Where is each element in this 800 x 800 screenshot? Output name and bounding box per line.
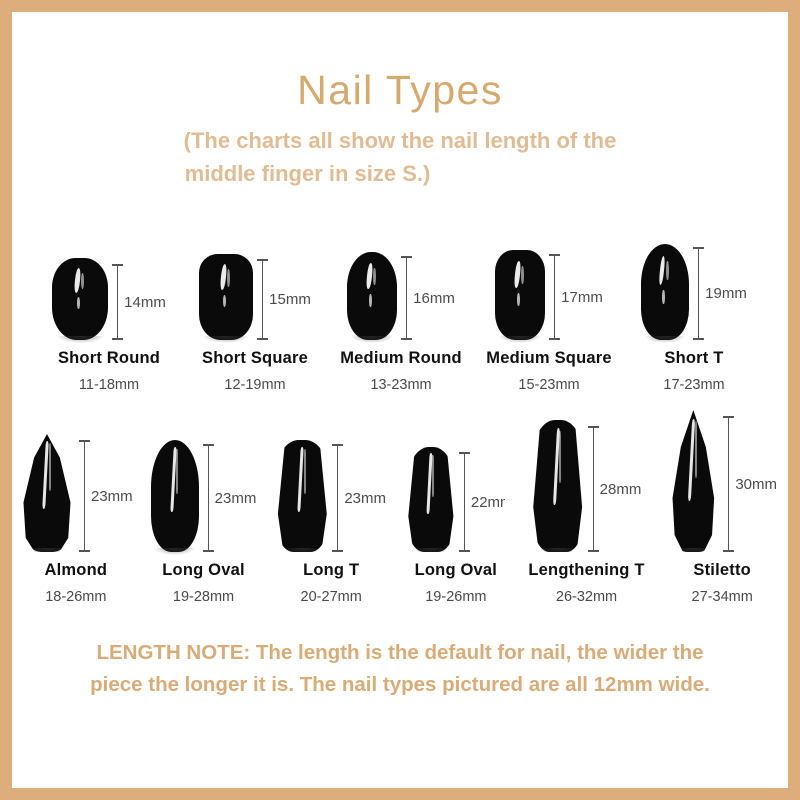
dimension-label: 17mm [561, 289, 603, 306]
dimension-indicator: 22mm [464, 452, 505, 552]
nail-card-lengthening-t[interactable]: 28mm Lengthening T 26-32mm [517, 420, 657, 605]
note-line-1: LENGTH NOTE: The length is the default f… [12, 637, 788, 669]
dimension-line-icon [406, 256, 407, 340]
dimension-line-icon [593, 426, 594, 552]
dimension-line-icon [728, 416, 729, 552]
figure: 14mm [52, 258, 166, 340]
nail-length-range: 15-23mm [518, 377, 579, 393]
nail-shape-short-t [641, 244, 689, 340]
nail-type-name: Lengthening T [528, 561, 644, 580]
nail-card-short-round[interactable]: 14mm Short Round 11-18mm [36, 258, 182, 393]
dimension-label: 30mm [735, 476, 777, 493]
nail-shape-long-oval [151, 440, 199, 552]
dimension-label: 23mm [91, 488, 133, 505]
dimension-line-icon [117, 264, 118, 340]
dimension-label: 23mm [344, 490, 386, 507]
dimension-line-icon [84, 440, 85, 552]
dimension-indicator: 23mm [84, 440, 133, 552]
subtitle-line-2: middle finger in size S.) [0, 157, 788, 190]
dimension-label: 22mm [471, 494, 505, 511]
gloss-highlight-icon [298, 447, 305, 512]
dimension-indicator: 15mm [262, 259, 311, 340]
dimension-line-icon [464, 452, 465, 552]
figure: 23mm [151, 440, 257, 552]
gloss-highlight-icon [73, 268, 81, 293]
dimension-indicator: 23mm [208, 444, 257, 552]
nail-shape-short-square [199, 254, 253, 340]
figure: 17mm [495, 250, 603, 340]
gloss-highlight-icon [517, 293, 520, 306]
nail-type-name: Short Round [58, 349, 160, 368]
nail-row-long: 23mm Almond 18-26mm 23mm Lon [12, 410, 788, 605]
figure: 30mm [667, 410, 777, 552]
nail-type-name: Long Oval [162, 561, 244, 580]
dimension-label: 14mm [124, 294, 166, 311]
figure: 16mm [347, 252, 455, 340]
nail-type-name: Almond [45, 561, 108, 580]
nail-length-range: 19-28mm [173, 589, 234, 605]
gloss-highlight-icon [81, 273, 84, 289]
nail-types-poster: Nail Types (The charts all show the nail… [0, 0, 800, 800]
nail-type-name: Short Square [202, 349, 308, 368]
gloss-highlight-icon [304, 449, 306, 494]
dimension-line-icon [554, 254, 555, 340]
nail-shape-stiletto [667, 410, 719, 552]
gloss-highlight-icon [688, 418, 695, 500]
nail-shape-lengthening-t [532, 420, 584, 552]
figure: 23mm [19, 434, 133, 552]
dimension-label: 19mm [705, 285, 747, 302]
gloss-highlight-icon [514, 261, 521, 288]
dimension-label: 28mm [600, 481, 642, 498]
dimension-indicator: 19mm [698, 247, 747, 340]
gloss-highlight-icon [659, 255, 666, 284]
dimension-line-icon [208, 444, 209, 552]
gloss-highlight-icon [373, 268, 376, 286]
gloss-highlight-icon [49, 443, 51, 490]
nail-length-range: 11-18mm [79, 377, 139, 393]
poster-inner: Nail Types (The charts all show the nail… [12, 12, 788, 788]
gloss-highlight-icon [369, 294, 372, 306]
gloss-highlight-icon [432, 455, 434, 497]
gloss-highlight-icon [666, 261, 668, 280]
page-subtitle: (The charts all show the nail length of … [12, 124, 788, 190]
gloss-highlight-icon [426, 453, 432, 514]
gloss-highlight-icon [77, 297, 80, 308]
nail-type-name: Medium Square [486, 349, 611, 368]
dimension-indicator: 28mm [593, 426, 642, 552]
nail-type-name: Stiletto [693, 561, 751, 580]
nail-shape-medium-square [495, 250, 545, 340]
nail-card-long-t[interactable]: 23mm Long T 20-27mm [267, 440, 395, 605]
note-line-2: piece the longer it is. The nail types p… [12, 669, 788, 701]
nail-length-range: 20-27mm [301, 589, 362, 605]
dimension-indicator: 23mm [337, 444, 386, 552]
nail-card-medium-square[interactable]: 17mm Medium Square 15-23mm [474, 250, 624, 393]
nail-type-name: Long Oval [415, 561, 497, 580]
gloss-highlight-icon [553, 428, 560, 505]
dimension-indicator: 16mm [406, 256, 455, 340]
subtitle-line-1: (The charts all show the nail length of … [12, 124, 788, 157]
nail-shape-long-oval [407, 447, 455, 552]
nail-shape-medium-round [347, 252, 397, 340]
nail-card-long-oval-2[interactable]: 22mm Long Oval 19-26mm [395, 447, 517, 605]
nail-length-range: 13-23mm [370, 377, 431, 393]
nail-card-stiletto[interactable]: 30mm Stiletto 27-34mm [656, 410, 788, 605]
figure: 15mm [199, 254, 311, 340]
gloss-highlight-icon [662, 290, 664, 303]
dimension-indicator: 14mm [117, 264, 166, 340]
gloss-highlight-icon [223, 295, 226, 307]
dimension-label: 15mm [269, 291, 311, 308]
figure: 28mm [532, 420, 642, 552]
figure: 22mm [407, 447, 505, 552]
nail-card-medium-round[interactable]: 16mm Medium Round 13-23mm [328, 252, 474, 393]
nail-length-range: 12-19mm [224, 377, 285, 393]
dimension-line-icon [337, 444, 338, 552]
nail-length-range: 26-32mm [556, 589, 617, 605]
dimension-indicator: 17mm [554, 254, 603, 340]
nail-type-name: Medium Round [340, 349, 462, 368]
dimension-label: 23mm [215, 490, 257, 507]
figure: 23mm [276, 440, 386, 552]
dimension-indicator: 30mm [728, 416, 777, 552]
nail-shape-almond [19, 434, 75, 552]
nail-type-name: Short T [664, 349, 723, 368]
dimension-line-icon [698, 247, 699, 340]
gloss-highlight-icon [219, 264, 227, 290]
gloss-highlight-icon [521, 266, 524, 284]
nail-length-range: 27-34mm [692, 589, 753, 605]
nail-card-short-square[interactable]: 15mm Short Square 12-19mm [182, 254, 328, 393]
gloss-highlight-icon [695, 421, 697, 478]
gloss-highlight-icon [227, 269, 230, 286]
nail-length-range: 18-26mm [45, 589, 106, 605]
nail-card-almond[interactable]: 23mm Almond 18-26mm [12, 434, 140, 605]
length-note: LENGTH NOTE: The length is the default f… [12, 637, 788, 701]
nail-type-name: Long T [303, 561, 359, 580]
gloss-highlight-icon [176, 449, 178, 494]
dimension-label: 16mm [413, 290, 455, 307]
nail-shape-short-round [52, 258, 108, 340]
nail-row-short: 14mm Short Round 11-18mm 15mm [12, 244, 788, 393]
gloss-highlight-icon [42, 441, 49, 510]
dimension-line-icon [262, 259, 263, 340]
gloss-highlight-icon [170, 447, 176, 512]
figure: 19mm [641, 244, 747, 340]
nail-card-short-t[interactable]: 19mm Short T 17-23mm [624, 244, 764, 393]
nail-length-range: 19-26mm [425, 589, 486, 605]
gloss-highlight-icon [366, 262, 373, 289]
gloss-highlight-icon [559, 431, 561, 484]
page-title: Nail Types [12, 70, 788, 111]
nail-length-range: 17-23mm [663, 377, 724, 393]
nail-shape-long-t [276, 440, 328, 552]
nail-card-long-oval-1[interactable]: 23mm Long Oval 19-28mm [140, 440, 268, 605]
